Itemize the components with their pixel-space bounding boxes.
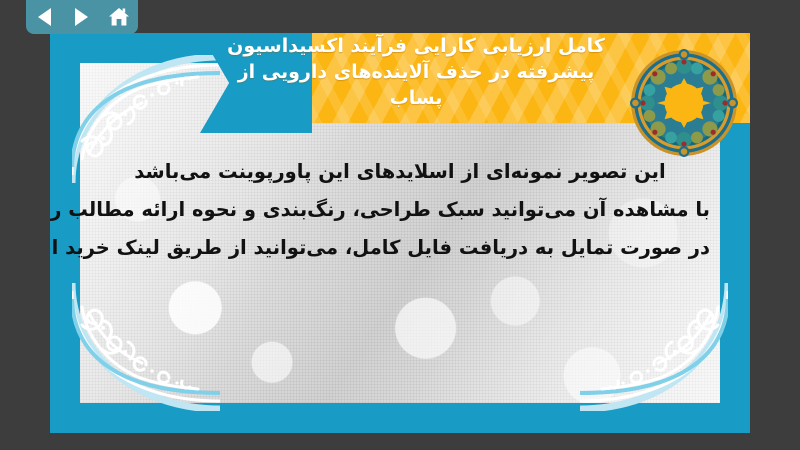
home-icon — [108, 7, 130, 27]
slide-title: کامل ارزیابی کارایی فرآیند اکسیداسیون پی… — [200, 33, 632, 111]
slide-title-banner: کامل ارزیابی کارایی فرآیند اکسیداسیون پی… — [200, 33, 750, 133]
body-line-1: این تصویر نمونه‌ای از اسلایدهای این پاور… — [90, 153, 710, 191]
presentation-viewer: کامل ارزیابی کارایی فرآیند اکسیداسیون پی… — [0, 0, 800, 450]
slide-navigation-bar — [26, 0, 138, 34]
slide-title-line-3: پساب — [200, 85, 632, 111]
slide-canvas: کامل ارزیابی کارایی فرآیند اکسیداسیون پی… — [50, 33, 750, 433]
slide-title-line-2: پیشرفته در حذف آلاینده‌های دارویی از — [200, 59, 632, 85]
home-button[interactable] — [105, 3, 133, 31]
persian-medallion-ornament — [630, 49, 738, 157]
body-line-2: با مشاهده آن می‌توانید سبک طراحی، رنگ‌بن… — [90, 191, 710, 229]
slide-title-line-1: کامل ارزیابی کارایی فرآیند اکسیداسیون — [200, 33, 632, 59]
triangle-left-icon — [38, 8, 51, 26]
triangle-right-icon — [75, 8, 88, 26]
previous-slide-button[interactable] — [31, 3, 59, 31]
body-line-3: در صورت تمایل به دریافت فایل کامل، می‌تو… — [90, 229, 710, 267]
next-slide-button[interactable] — [68, 3, 96, 31]
slide-body-text: این تصویر نمونه‌ای از اسلایدهای این پاور… — [90, 153, 710, 267]
